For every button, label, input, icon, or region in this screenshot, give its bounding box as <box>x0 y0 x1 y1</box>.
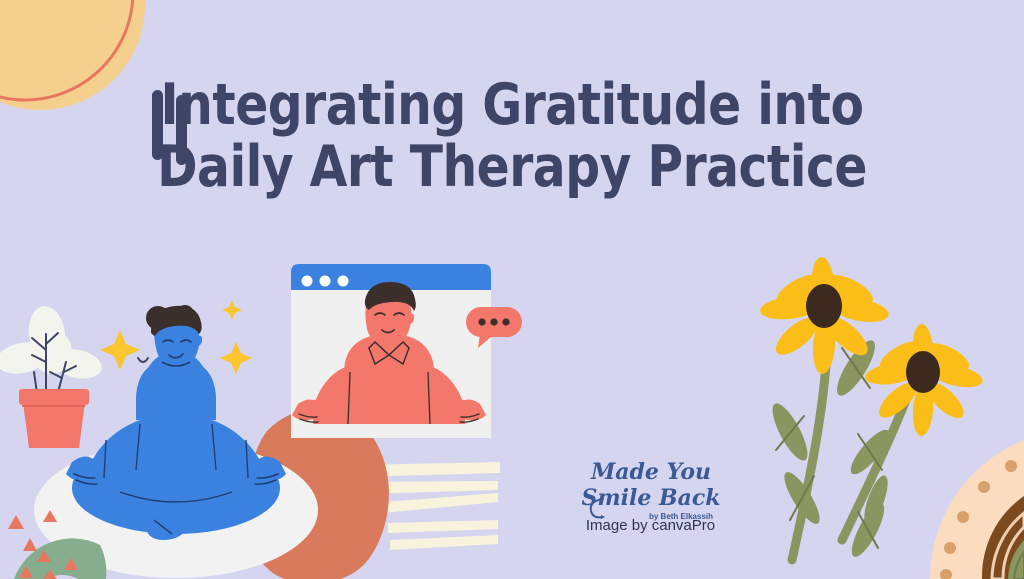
brand-line-2: Smile Back <box>581 485 720 511</box>
image-credit: Image by canvaPro <box>563 517 738 534</box>
triangle-decor-3 <box>23 538 37 551</box>
triangle-decor-1 <box>8 515 24 529</box>
poster-canvas: Integrating Gratitude into Daily Art The… <box>0 0 1024 579</box>
triangle-decor-2 <box>43 510 57 522</box>
bottom-left-decor-layer <box>0 0 1024 579</box>
brand-watermark: Made You Smile Back by Beth Elkassih <box>563 455 738 550</box>
brand-line-1: Made You <box>590 459 711 485</box>
